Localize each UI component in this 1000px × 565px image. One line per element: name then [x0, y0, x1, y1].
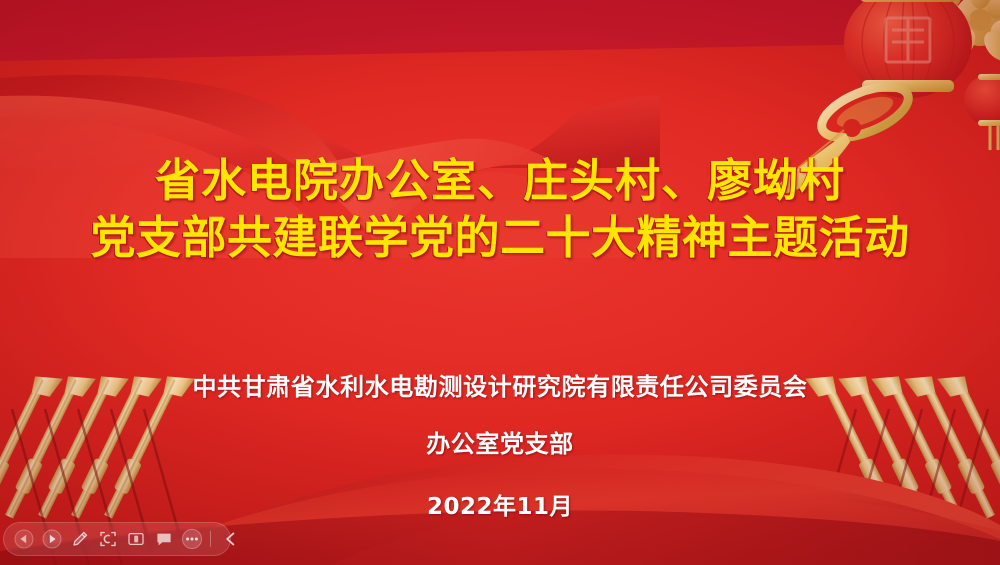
presenter-screen-icon: [126, 529, 146, 549]
focus-button[interactable]: [94, 525, 122, 553]
chevron-left-icon: [221, 529, 241, 549]
pen-icon: [70, 529, 90, 549]
speech-bubble-icon: [154, 529, 174, 549]
previous-button[interactable]: [10, 525, 38, 553]
silk-ribbon-decoration: [0, 0, 660, 260]
more-button[interactable]: [178, 525, 206, 553]
collapse-button[interactable]: [217, 525, 245, 553]
toolbar-separator: [210, 531, 211, 547]
presenter-button[interactable]: [122, 525, 150, 553]
play-button[interactable]: [38, 525, 66, 553]
pen-button[interactable]: [66, 525, 94, 553]
comment-button[interactable]: [150, 525, 178, 553]
ellipsis-circle-icon: [181, 528, 203, 550]
triangle-right-icon: [42, 529, 62, 549]
presentation-slide: 省水电院办公室、庄头村、廖坳村 党支部共建联学党的二十大精神主题活动 中共甘肃省…: [0, 0, 1000, 565]
lantern-decoration: [740, 0, 1000, 200]
focus-frame-icon: [98, 529, 118, 549]
presentation-toolbar[interactable]: [3, 522, 231, 556]
triangle-left-icon: [14, 529, 34, 549]
